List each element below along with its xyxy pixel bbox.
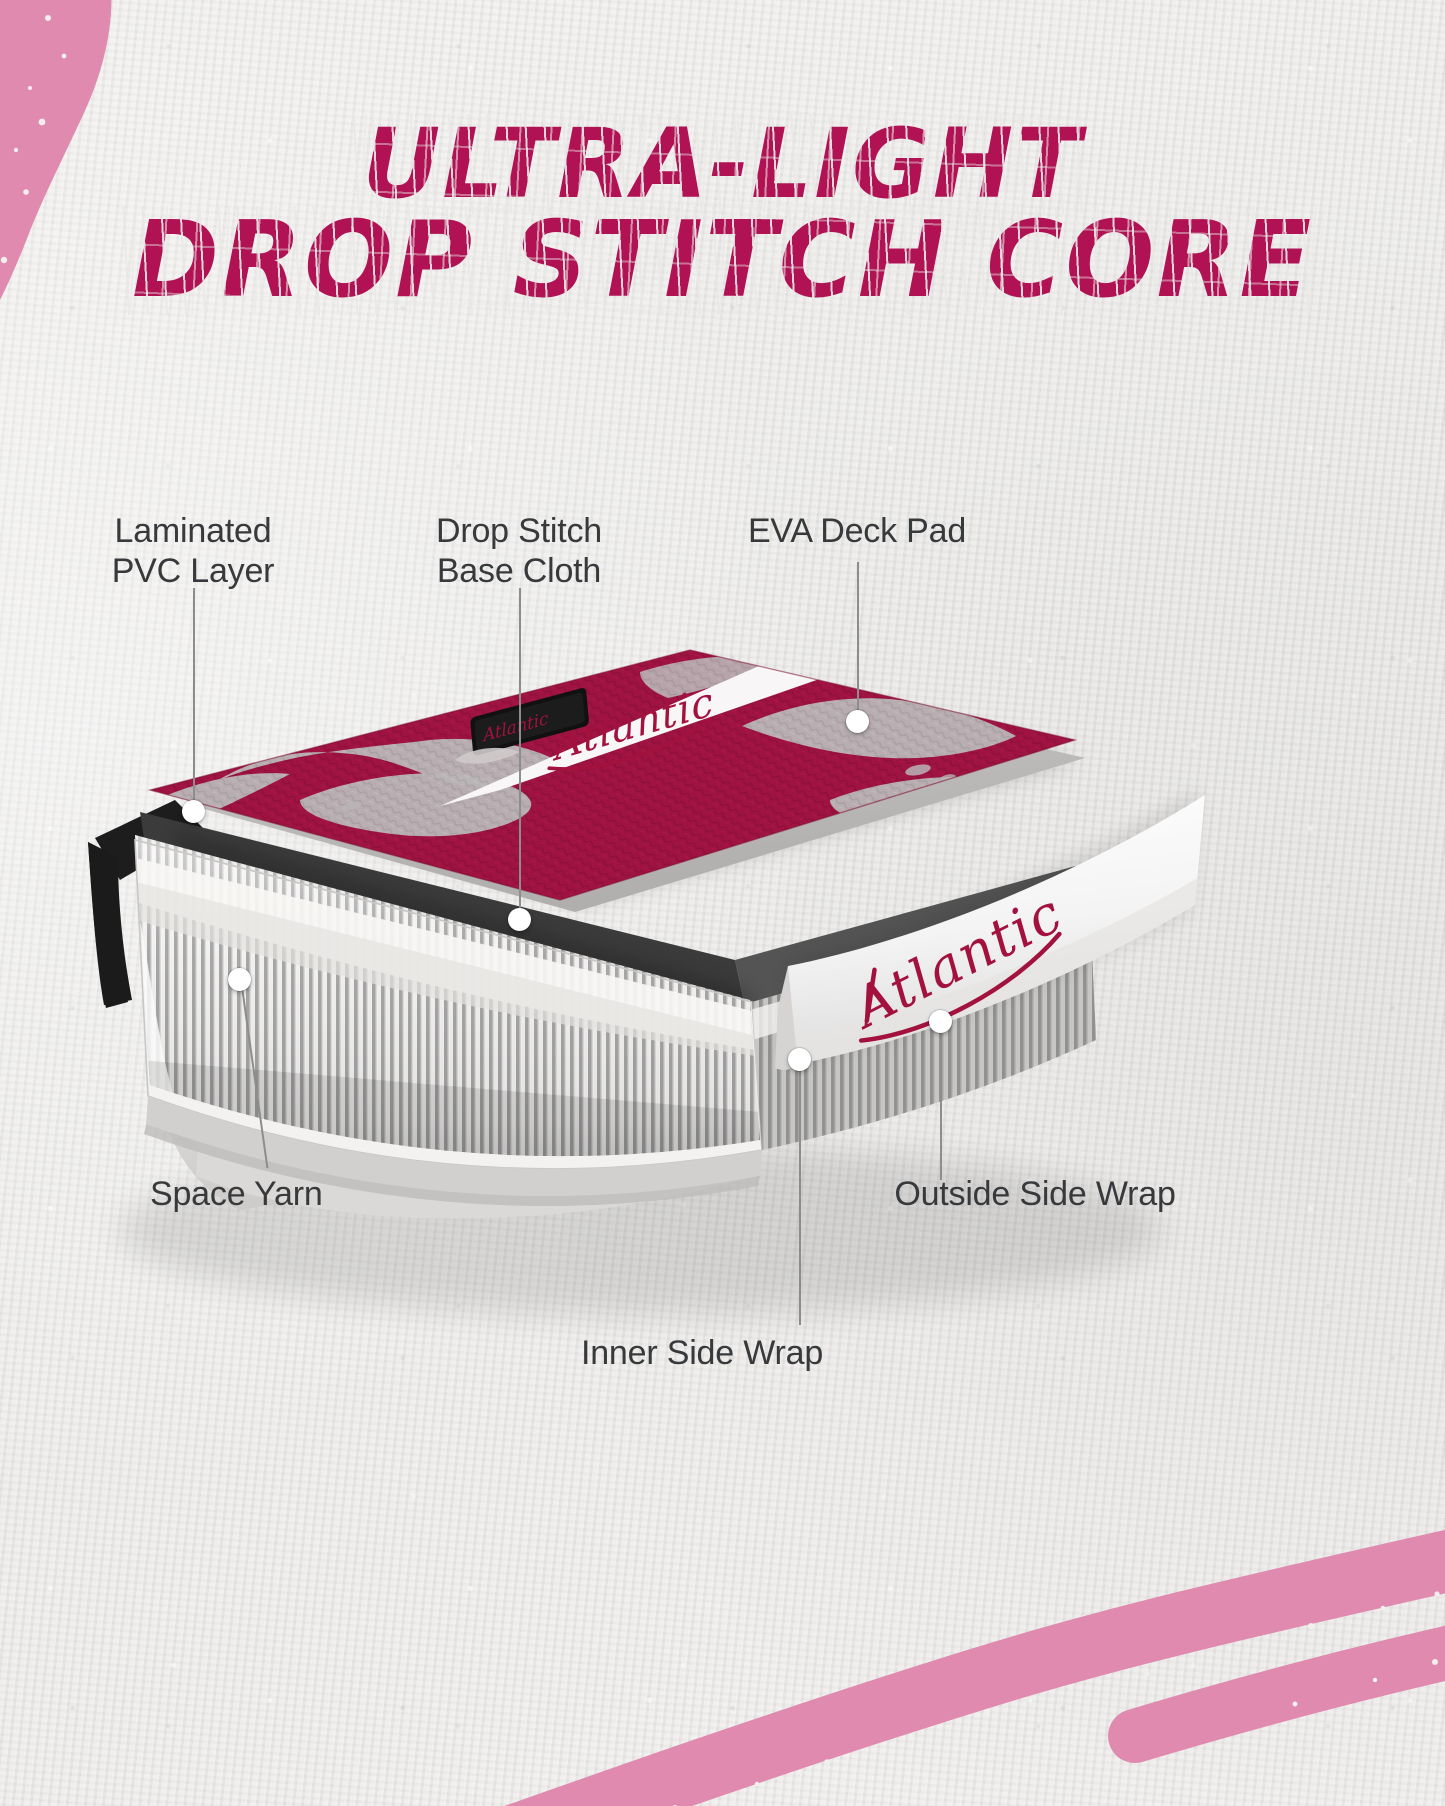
title-line-2: DROP STITCH CORE [0, 212, 1445, 309]
marker-dot-laminated-pvc [182, 800, 205, 823]
label-laminated-pvc-layer: Laminated PVC Layer [53, 512, 333, 592]
marker-dot-inner-side-wrap [788, 1048, 811, 1071]
marker-dot-space-yarn [228, 968, 251, 991]
leader-line-outside-side-wrap [940, 1022, 942, 1180]
label-inner-side-wrap: Inner Side Wrap [562, 1334, 842, 1374]
label-eva-deck-pad: EVA Deck Pad [717, 512, 997, 552]
leader-line-laminated-pvc [193, 588, 195, 810]
label-outside-side-wrap: Outside Side Wrap [865, 1175, 1205, 1215]
leader-line-drop-stitch [519, 588, 521, 918]
title-line-1: ULTRA-LIGHT [0, 120, 1445, 208]
marker-dot-drop-stitch [508, 908, 531, 931]
page-title: ULTRA-LIGHT DROP STITCH CORE [0, 120, 1445, 309]
label-drop-stitch-base-cloth: Drop Stitch Base Cloth [379, 512, 659, 592]
label-space-yarn: Space Yarn [150, 1175, 470, 1215]
leader-line-inner-side-wrap [799, 1060, 801, 1325]
marker-dot-eva-deck-pad [846, 710, 869, 733]
leader-line-eva-deck-pad [857, 562, 859, 720]
marker-dot-outside-side-wrap [929, 1010, 952, 1033]
